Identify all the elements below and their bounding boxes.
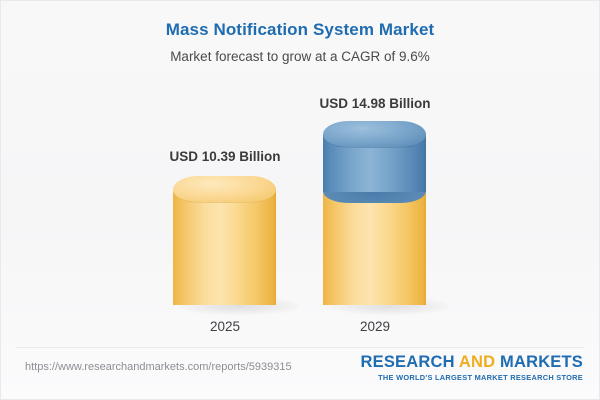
plot-area: USD 10.39 Billion 2025 USD 14.98 Billion (1, 1, 599, 399)
bar-top-ellipse-2029 (323, 121, 426, 148)
value-label-2025: USD 10.39 Billion (115, 149, 335, 164)
logo-word-research: RESEARCH (361, 353, 459, 371)
bar-cylinder-2025[interactable] (173, 176, 276, 306)
logo-word-markets: MARKETS (500, 353, 583, 371)
research-and-markets-logo[interactable]: RESEARCH AND MARKETS THE WORLD'S LARGEST… (361, 353, 584, 382)
bar-cylinder-2029[interactable] (323, 121, 426, 306)
logo-wordmark: RESEARCH AND MARKETS (361, 353, 584, 371)
footer-divider (15, 347, 585, 348)
category-label-2025: 2025 (145, 319, 305, 334)
logo-tagline: THE WORLD'S LARGEST MARKET RESEARCH STOR… (361, 373, 584, 382)
bar-top-ellipse-2025 (173, 176, 276, 203)
bar-group-2029[interactable]: USD 14.98 Billion 2029 (323, 1, 426, 400)
bar-group-2025[interactable]: USD 10.39 Billion 2025 (173, 1, 276, 400)
bar-body-2025 (173, 189, 276, 305)
category-label-2029: 2029 (295, 319, 455, 334)
value-label-2029: USD 14.98 Billion (265, 96, 485, 111)
chart-canvas: Mass Notification System Market Market f… (0, 0, 600, 400)
logo-word-and: AND (459, 353, 500, 371)
report-url[interactable]: https://www.researchandmarkets.com/repor… (25, 361, 292, 373)
bar-body-segment-base-2029 (323, 191, 426, 305)
